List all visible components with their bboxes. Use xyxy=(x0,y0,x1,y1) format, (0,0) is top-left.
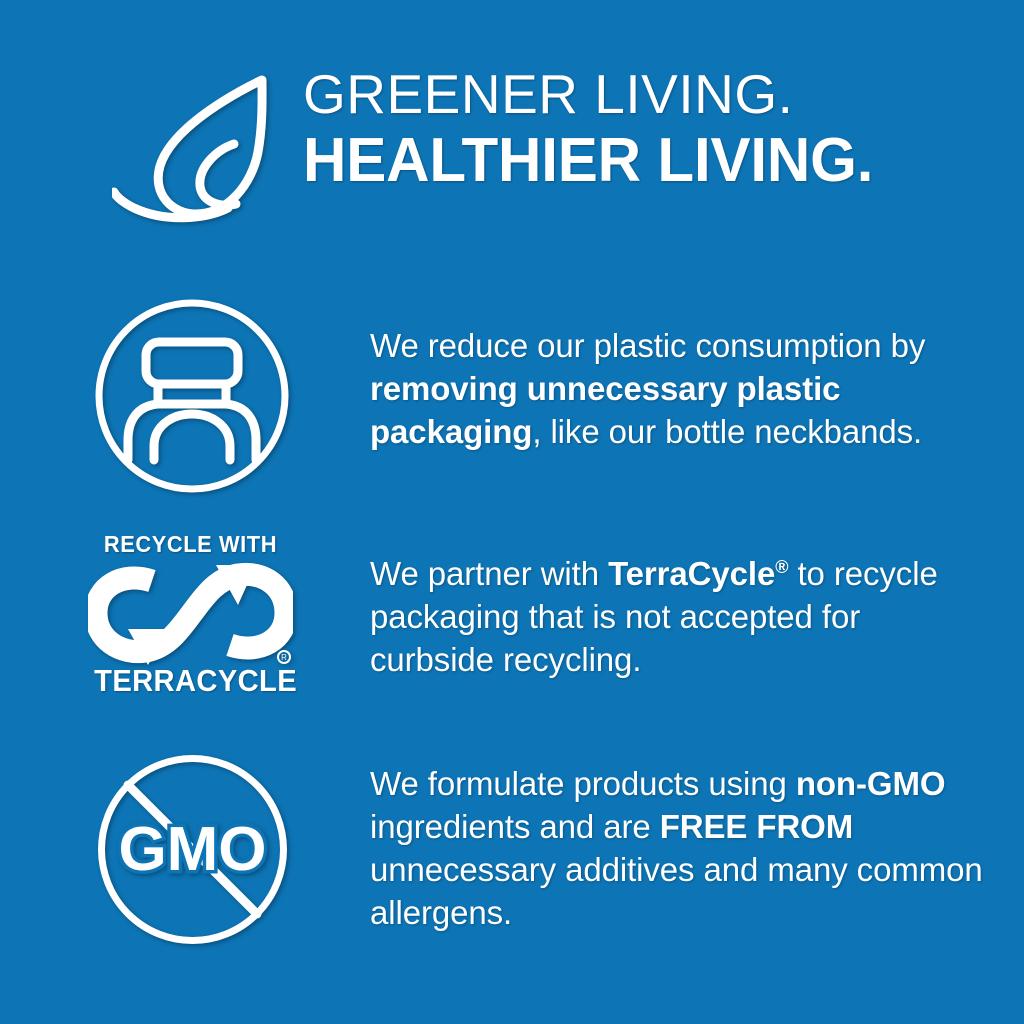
headline-block: GREENER LIVING. HEALTHIER LIVING. xyxy=(303,62,963,196)
no-gmo-icon: GMO xyxy=(95,752,290,952)
bottle-neck-icon xyxy=(92,296,292,501)
headline-line-2: HEALTHIER LIVING. xyxy=(303,126,943,196)
text-segment: We reduce our plastic consumption by xyxy=(370,327,925,364)
text-segment-bold: TerraCycle xyxy=(608,555,775,592)
greener-living-poster: GREENER LIVING. HEALTHIER LIVING. We red… xyxy=(0,0,1024,1024)
feature-text-gmo: We formulate products using non-GMO ingr… xyxy=(370,762,985,934)
header-banner: GREENER LIVING. HEALTHIER LIVING. xyxy=(0,62,1024,232)
svg-text:R: R xyxy=(281,653,287,662)
text-segment-bold: FREE FROM xyxy=(660,808,853,845)
text-segment: We formulate products using xyxy=(370,765,796,802)
leaf-icon xyxy=(112,68,287,228)
infinity-loop-arrows-icon: R xyxy=(88,561,293,666)
gmo-label: GMO xyxy=(118,815,266,884)
text-segment-bold: non-GMO xyxy=(796,765,946,802)
text-segment: We partner with xyxy=(370,555,608,592)
text-segment: unnecessary additives and many common al… xyxy=(370,851,983,931)
terracycle-wordmark: TERRACYCLE xyxy=(94,664,287,697)
registered-mark: ® xyxy=(775,557,788,577)
text-segment: ingredients and are xyxy=(370,808,660,845)
headline-line-1: GREENER LIVING. xyxy=(303,62,963,126)
feature-text-plastic: We reduce our plastic consumption by rem… xyxy=(370,324,985,453)
feature-text-terracycle: We partner with TerraCycle® to recycle p… xyxy=(370,552,985,681)
text-segment: , like our bottle neckbands. xyxy=(532,413,922,450)
terracycle-recycle-with-label: RECYCLE WITH xyxy=(93,532,288,557)
